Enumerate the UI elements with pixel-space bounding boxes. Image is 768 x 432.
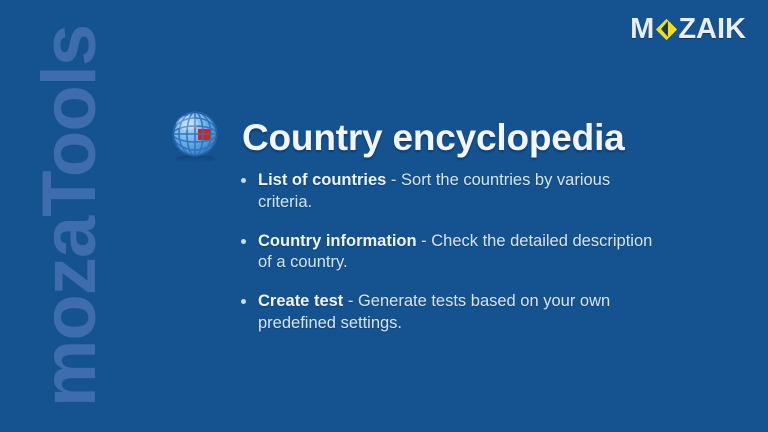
watermark-label: mozaTools [32,25,108,407]
mozaik-logo-wordmark: M ZAIK [630,15,746,44]
list-item[interactable]: Create test - Generate tests based on yo… [240,291,660,335]
list-item[interactable]: List of countries - Sort the countries b… [240,170,660,214]
feature-term: Create test [258,292,343,310]
mozaik-logo-letters-after: ZAIK [678,15,746,44]
page-title: Country encyclopedia [242,119,625,156]
feature-term: List of countries [258,171,386,189]
diamond-icon [655,17,677,41]
bullet-icon [241,239,246,244]
list-item[interactable]: Country information - Check the detailed… [240,231,660,275]
watermark: mozaTools [0,0,140,432]
feature-term: Country information [258,232,417,250]
bullet-icon [241,299,246,304]
mozaik-logo: M ZAIK [630,14,746,44]
mozaik-logo-letters-before: M [630,15,654,44]
presentation-slide: mozaTools M ZAIK [0,0,768,432]
bullet-icon [241,178,246,183]
feature-list: List of countries - Sort the countries b… [240,170,660,335]
slide-header: Country encyclopedia [166,108,625,166]
globe-icon [166,108,224,166]
